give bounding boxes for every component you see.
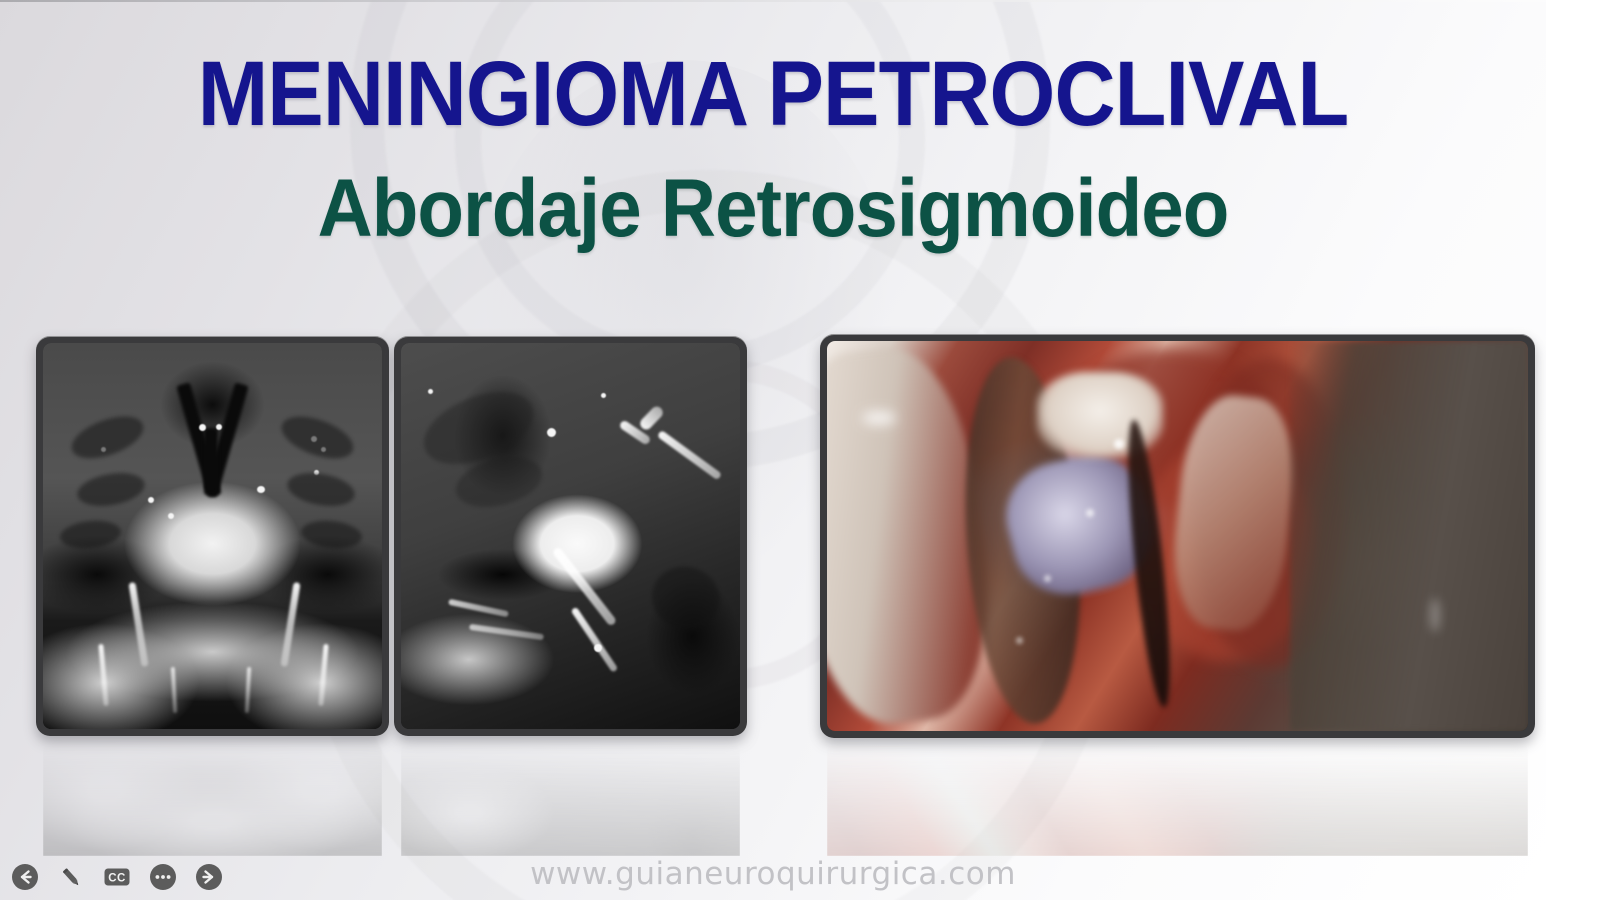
- arrow-left-circle-icon: [11, 863, 39, 891]
- mri-coronal-frame[interactable]: [36, 336, 389, 736]
- surgical-view-frame[interactable]: [820, 334, 1535, 738]
- mri-sagittal-frame[interactable]: [394, 336, 747, 736]
- mri-coronal-image: [43, 343, 382, 729]
- mri-sagittal-reflection: [401, 741, 740, 856]
- surgical-view-reflection: [827, 741, 1528, 856]
- captions-button[interactable]: CC: [102, 862, 132, 892]
- right-white-margin: [1546, 0, 1600, 900]
- site-url-label: www.guianeuroquirurgica.com: [0, 856, 1546, 892]
- annotate-button[interactable]: [56, 862, 86, 892]
- previous-slide-button[interactable]: [10, 862, 40, 892]
- surgical-view-image: [827, 341, 1528, 731]
- arrow-right-circle-icon: [195, 863, 223, 891]
- pencil-icon: [57, 863, 85, 891]
- closed-captions-icon: CC: [103, 863, 131, 891]
- next-slide-button[interactable]: [194, 862, 224, 892]
- slide-canvas: MENINGIOMA PETROCLIVAL Abordaje Retrosig…: [0, 0, 1546, 900]
- slide-title: MENINGIOMA PETROCLIVAL: [62, 42, 1484, 147]
- more-options-button[interactable]: [148, 862, 178, 892]
- svg-text:CC: CC: [108, 873, 126, 885]
- mri-coronal-reflection: [43, 741, 382, 856]
- mri-sagittal-image: [401, 343, 740, 729]
- ellipsis-circle-icon: [149, 863, 177, 891]
- slide-subtitle: Abordaje Retrosigmoideo: [54, 162, 1492, 256]
- presentation-controls: CC: [10, 862, 224, 892]
